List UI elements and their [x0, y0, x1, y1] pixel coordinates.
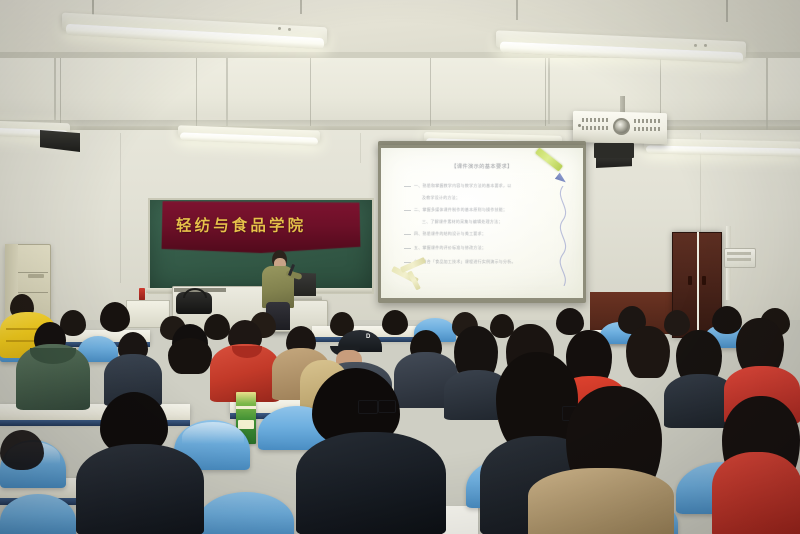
student-body — [76, 444, 204, 534]
cabinet-handle[interactable] — [28, 274, 44, 278]
carton-label — [238, 420, 254, 429]
slide-bullet-7: 六、结合「食品加工技术」课程进行实例演示与分析。 — [414, 259, 516, 265]
slide-bullet-1: 一、熟悉和掌握教学内容与教学方法的基本要求，以 — [414, 183, 512, 189]
classroom-photo: 【课件演示的基本要求】 一、熟悉和掌握教学内容与教学方法的基本要求，以 及教学设… — [0, 0, 800, 534]
door-split — [697, 232, 699, 336]
door-handle[interactable] — [702, 276, 706, 285]
projector-vent — [582, 126, 610, 130]
slide-bullet-2: 及教学设计的方法； — [422, 195, 460, 201]
glasses-icon — [358, 400, 378, 414]
projector-vent — [582, 118, 610, 122]
projector-vent — [634, 127, 660, 131]
student-beige-coat — [528, 468, 674, 534]
projector-lens-icon — [613, 118, 630, 135]
projector-mount — [594, 143, 634, 158]
fixture-screw — [278, 27, 281, 30]
wall-unit-vent — [727, 258, 751, 261]
light-rod — [226, 58, 228, 126]
door-handle[interactable] — [688, 276, 692, 285]
light-rod — [54, 58, 56, 120]
slide-bullet-dash — [404, 248, 411, 249]
student-head — [0, 430, 44, 470]
glasses-icon — [378, 400, 396, 413]
chair[interactable] — [198, 492, 294, 534]
fixture-screw — [694, 44, 697, 47]
student-body — [296, 432, 446, 534]
slide-bullet-5: 四、熟悉课件的结构设计与美工要求； — [414, 231, 486, 237]
student-head — [664, 310, 690, 336]
slide-bullet-3: 二、掌握多媒体课件制作的基本原则与操作技能； — [414, 207, 507, 213]
projector-vent — [634, 119, 660, 123]
student-head — [100, 302, 130, 332]
student-head — [382, 310, 408, 335]
wall-seam — [360, 133, 361, 163]
wall-unit-vent — [727, 252, 751, 255]
banner-text: 轻纺与食品学院 — [176, 213, 284, 235]
squiggle-line-icon — [550, 186, 576, 286]
carton-band — [236, 406, 256, 409]
student-hair-long — [626, 326, 670, 378]
light-rod — [516, 0, 518, 20]
cap-logo: D — [366, 334, 370, 340]
wall-seam — [120, 133, 121, 283]
slide-bullet-dash — [404, 234, 411, 235]
student-head — [204, 314, 230, 340]
student-head — [712, 306, 742, 334]
slide-bullet-dash — [404, 210, 411, 211]
student-hair — [168, 338, 212, 374]
slide-title: 【课件演示的基本要求】 — [398, 163, 566, 170]
fixture-screw — [704, 44, 707, 47]
projector-indicator — [578, 124, 581, 127]
light-rod — [300, 0, 302, 14]
slide-bullet-4: 三、了解课件素材的采集与编辑处理方法； — [422, 219, 503, 225]
light-rod — [548, 58, 550, 124]
fixture-screw — [288, 28, 291, 31]
slide-bullet-6: 五、掌握课件的评价标准与修改方法； — [414, 245, 486, 251]
light-rod — [766, 58, 768, 130]
student-red-sweater — [712, 452, 800, 534]
slide-bullet-dash — [404, 186, 411, 187]
light-rod — [726, 0, 728, 22]
